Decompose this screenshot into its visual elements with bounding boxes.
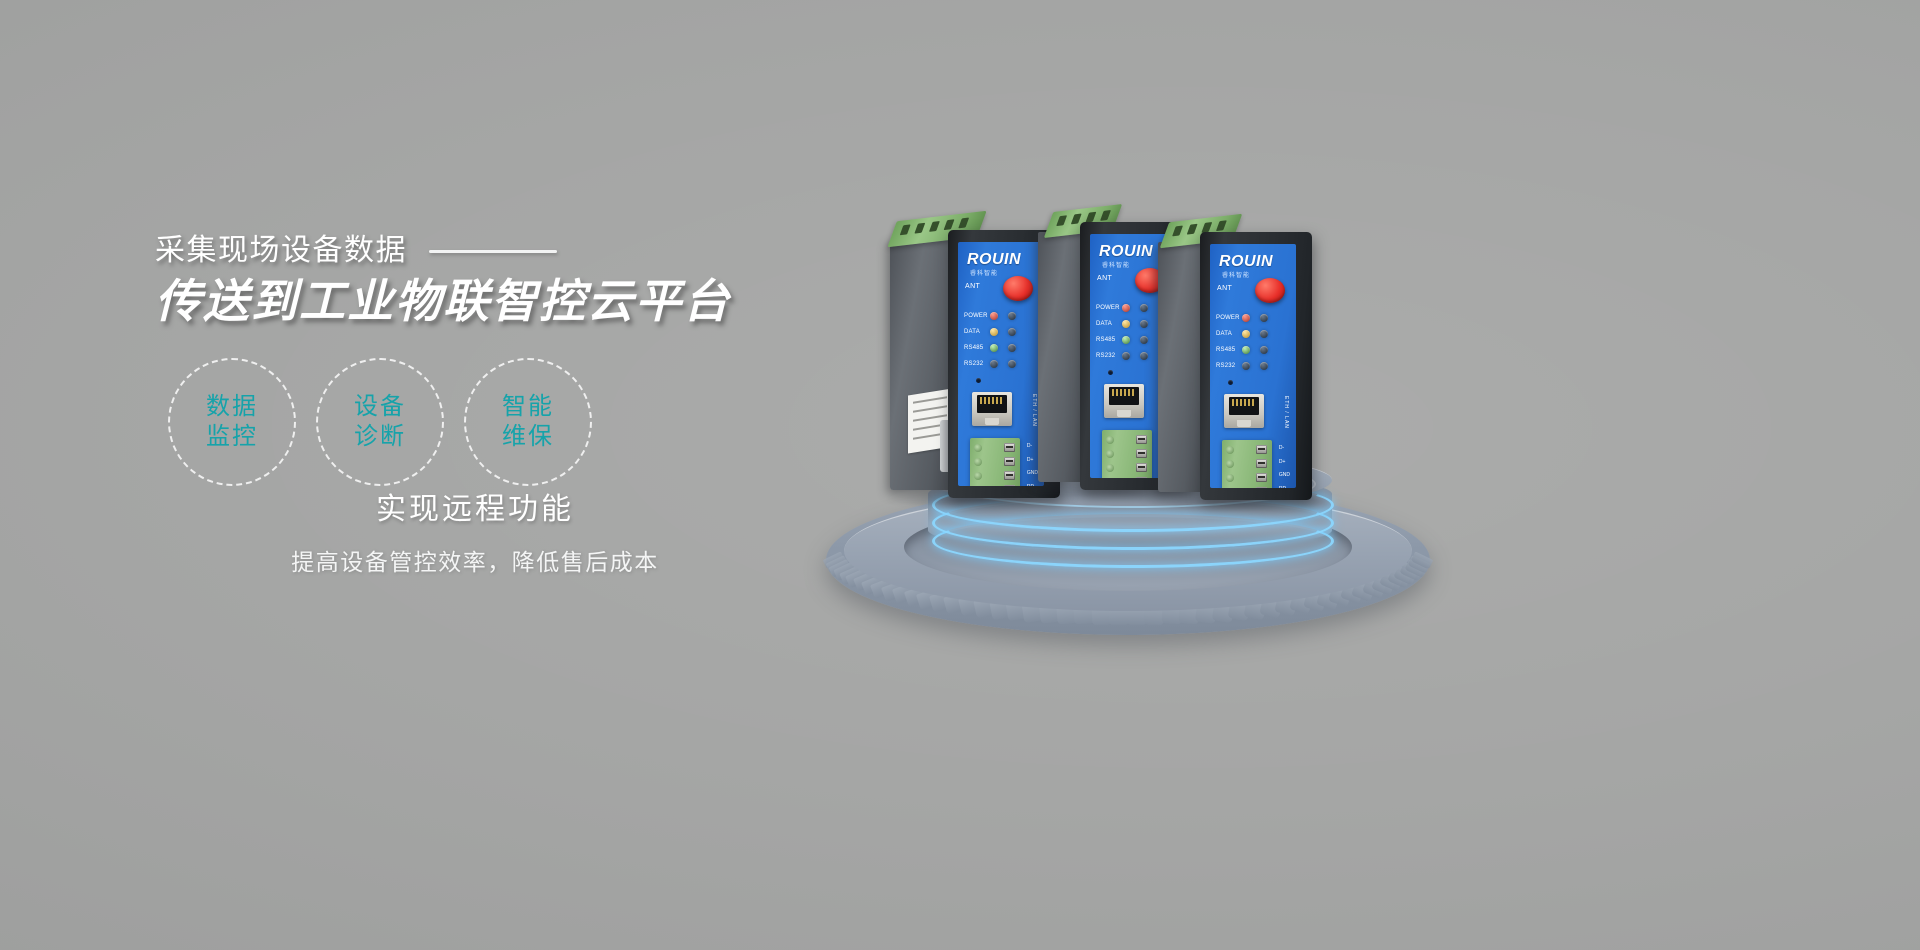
feature-label-line2: 维保 [502, 422, 554, 452]
ethernet-port-slot [977, 395, 1007, 413]
led-row: RS232 [964, 356, 1040, 372]
power-led-aux [1140, 304, 1148, 312]
power-led [990, 312, 998, 320]
brand-logo: ROUIN [1219, 253, 1273, 271]
led-label: RS232 [1216, 363, 1242, 369]
terminal-hole [1106, 436, 1114, 444]
feature-circle-device-diagnostics[interactable]: 设备 诊断 [316, 358, 444, 486]
led-row: RS485 [964, 340, 1040, 356]
terminal-label: GND [1027, 467, 1038, 481]
ethernet-port[interactable] [972, 392, 1012, 426]
terminal-screw [1136, 477, 1147, 478]
terminal-label: D+ [1027, 454, 1038, 468]
data-led-aux [1140, 320, 1148, 328]
terminal-hole [974, 472, 982, 480]
page-title: 传送到工业物联智控云平台 [155, 276, 795, 328]
terminal-hole [974, 444, 982, 452]
antenna-label: ANT [965, 283, 980, 290]
led-indicator-group: POWER DATA RS485 RS232 [1216, 310, 1292, 374]
rs485-led-aux [1140, 336, 1148, 344]
banner-root: 采集现场设备数据 传送到工业物联智控云平台 数据 监控 设备 诊断 智能 维保 … [0, 0, 1920, 950]
device-front-panel: ROUIN 睿科智能 ANT POWER DATA RS485 RS232 [958, 242, 1044, 486]
terminal-screw [1004, 471, 1015, 480]
terminal-hole [1226, 460, 1234, 468]
terminal-screw [1004, 485, 1015, 486]
led-label: POWER [964, 313, 990, 319]
led-label: RS232 [1096, 353, 1122, 359]
feature-label-line1: 设备 [354, 392, 406, 422]
terminal-label: GND [1279, 469, 1290, 483]
rs232-led [990, 360, 998, 368]
rs485-led [1242, 346, 1250, 354]
ethernet-port[interactable] [1104, 384, 1144, 418]
led-label: RS485 [1096, 337, 1122, 343]
brand-logo-cn: 睿科智能 [970, 268, 998, 277]
rs232-led-aux [1008, 360, 1016, 368]
terminal-label: D- [1279, 442, 1290, 456]
power-led-aux [1260, 314, 1268, 322]
reset-button[interactable] [1228, 380, 1233, 385]
product-scene: ROUIN 睿科智能 ANT POWER DATA RS485 RS232 [780, 170, 1500, 670]
terminal-screw [1256, 445, 1267, 454]
led-row: POWER [964, 308, 1040, 324]
led-row: RS232 [1216, 358, 1292, 374]
ethernet-port[interactable] [1224, 394, 1264, 428]
led-row: DATA [1216, 326, 1292, 342]
terminal-screw [1256, 459, 1267, 468]
led-label: POWER [1216, 315, 1242, 321]
brand-logo-cn: 睿科智能 [1102, 260, 1130, 269]
feature-circle-group: 数据 监控 设备 诊断 智能 维保 [168, 358, 592, 486]
screw-terminal-block[interactable] [1222, 440, 1272, 488]
reset-button[interactable] [976, 378, 981, 383]
terminal-hole [974, 458, 982, 466]
terminal-label: RD [1279, 483, 1290, 489]
terminal-screw [1136, 435, 1147, 444]
feature-label-line2: 诊断 [354, 422, 406, 452]
rs232-led-aux [1260, 362, 1268, 370]
eyebrow-text: 采集现场设备数据 [155, 236, 407, 266]
copy-block: 采集现场设备数据 传送到工业物联智控云平台 [155, 236, 795, 328]
rs232-led [1242, 362, 1250, 370]
eyebrow-row: 采集现场设备数据 [155, 236, 795, 266]
led-label: RS485 [964, 345, 990, 351]
device-front-panel: ROUIN 睿科智能 ANT POWER DATA RS485 RS232 [1210, 244, 1296, 488]
device-front-bezel: ROUIN 睿科智能 ANT POWER DATA RS485 RS232 [1200, 232, 1312, 500]
port-label: ETH / LAN [1283, 396, 1289, 429]
terminal-hole [1226, 446, 1234, 454]
terminal-hole [1106, 450, 1114, 458]
rs485-led-aux [1008, 344, 1016, 352]
led-label: RS485 [1216, 347, 1242, 353]
feature-label-line2: 监控 [206, 422, 258, 452]
rs232-led [1122, 352, 1130, 360]
screw-terminal-block[interactable] [1102, 430, 1152, 478]
eyebrow-rule-divider [429, 250, 557, 253]
terminal-hole [1106, 464, 1114, 472]
data-led-aux [1008, 328, 1016, 336]
power-led-aux [1008, 312, 1016, 320]
terminal-label: D- [1027, 440, 1038, 454]
terminal-screw [1256, 473, 1267, 482]
antenna-label: ANT [1097, 275, 1112, 282]
rs232-led-aux [1140, 352, 1148, 360]
terminal-screw [1136, 463, 1147, 472]
led-row: POWER [1216, 310, 1292, 326]
data-led [1242, 330, 1250, 338]
antenna-connector[interactable] [1003, 276, 1033, 301]
device-unit[interactable]: ROUIN 睿科智能 ANT POWER DATA RS485 RS232 [1200, 232, 1312, 500]
ethernet-port-tab [985, 418, 999, 425]
led-label: POWER [1096, 305, 1122, 311]
reset-button[interactable] [1108, 370, 1113, 375]
led-row: RS485 [1216, 342, 1292, 358]
brand-logo-cn: 睿科智能 [1222, 270, 1250, 279]
terminal-screw [1004, 457, 1015, 466]
feature-label-line1: 智能 [502, 392, 554, 422]
led-label: DATA [1216, 331, 1242, 337]
rs485-led [1122, 336, 1130, 344]
led-label: DATA [964, 329, 990, 335]
brand-logo: ROUIN [1099, 243, 1153, 261]
terminal-screw [1256, 487, 1267, 488]
feature-label-line1: 数据 [206, 392, 258, 422]
rs485-led [990, 344, 998, 352]
power-led [1122, 304, 1130, 312]
brand-logo: ROUIN [967, 251, 1021, 269]
led-label: DATA [1096, 321, 1122, 327]
port-label: ETH / LAN [1031, 394, 1037, 427]
antenna-connector[interactable] [1255, 278, 1285, 303]
terminal-label-group: D- D+ GND RD TD [1279, 442, 1290, 488]
power-led [1242, 314, 1250, 322]
rs485-led-aux [1260, 346, 1268, 354]
led-label: RS232 [964, 361, 990, 367]
led-indicator-group: POWER DATA RS485 RS232 [964, 308, 1040, 372]
ethernet-port-slot [1109, 387, 1139, 405]
terminal-screw [1136, 449, 1147, 458]
terminal-screw [1004, 443, 1015, 452]
subline-description: 提高设备管控效率，降低售后成本 [155, 551, 795, 574]
feature-circle-data-monitoring[interactable]: 数据 监控 [168, 358, 296, 486]
ethernet-port-tab [1237, 420, 1251, 427]
data-led [990, 328, 998, 336]
terminal-label: D+ [1279, 456, 1290, 470]
data-led [1122, 320, 1130, 328]
antenna-label: ANT [1217, 285, 1232, 292]
subline-heading: 实现远程功能 [155, 495, 795, 525]
subline-block: 实现远程功能 提高设备管控效率，降低售后成本 [155, 495, 795, 574]
data-led-aux [1260, 330, 1268, 338]
screw-terminal-block[interactable] [970, 438, 1020, 486]
terminal-hole [1226, 474, 1234, 482]
ethernet-port-slot [1229, 397, 1259, 415]
ethernet-port-tab [1117, 410, 1131, 417]
led-row: DATA [964, 324, 1040, 340]
feature-circle-smart-maintenance[interactable]: 智能 维保 [464, 358, 592, 486]
